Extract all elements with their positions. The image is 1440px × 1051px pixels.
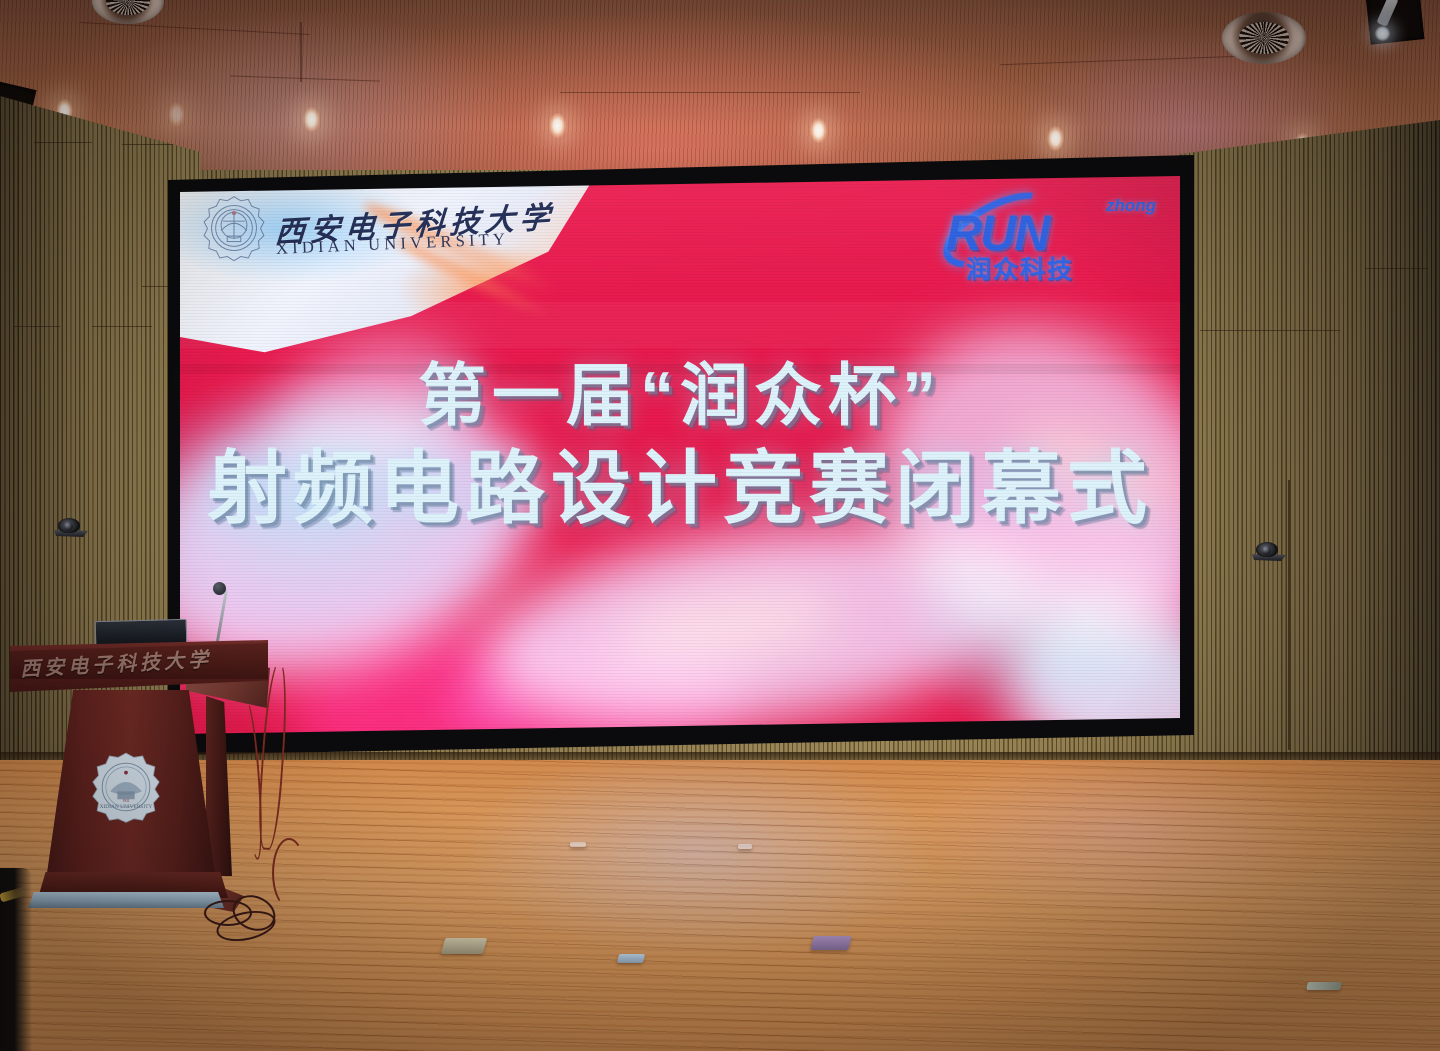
- svg-text:1931: 1931: [122, 799, 129, 803]
- wall-panel-seam: [92, 326, 152, 327]
- wall-panel-seam: [14, 326, 60, 327]
- wall-panel-seam: [1200, 330, 1340, 331]
- floor-outlet-plate: [441, 938, 488, 954]
- ceiling-downlight: [549, 113, 566, 138]
- right-wall: [1180, 120, 1440, 800]
- floor-outlet-plate: [617, 954, 645, 963]
- camera-lens-icon: [1262, 546, 1271, 555]
- ceiling-downlight: [303, 107, 320, 132]
- podium-university-seal-icon: XIDIAN UNIVERSITY 1931: [90, 750, 162, 824]
- microphone-icon: [213, 582, 226, 595]
- ceiling-downlight: [810, 118, 827, 143]
- floor-scuff-mark: [1306, 982, 1342, 990]
- wall-corner-edge: [1288, 480, 1290, 750]
- led-screen: 西安电子科技大学 XIDIAN UNIVERSITY RUN zhong 润众科…: [180, 176, 1180, 734]
- ceiling-downlight: [168, 102, 185, 127]
- wall-panel-seam: [1366, 268, 1428, 269]
- ptz-camera-icon: [1252, 542, 1286, 564]
- spotlight-lamp: [1375, 26, 1390, 41]
- floor-scuff-mark: [738, 844, 752, 849]
- screen-title-line1: 第一届“润众杯”: [180, 356, 1180, 436]
- ptz-camera-icon: [54, 518, 88, 540]
- floor-scuff-mark: [570, 842, 586, 847]
- auditorium-photo: 西安电子科技大学 XIDIAN UNIVERSITY RUN zhong 润众科…: [0, 0, 1440, 1051]
- air-diffuser-icon: [1222, 12, 1306, 64]
- svg-text:XIDIAN UNIVERSITY: XIDIAN UNIVERSITY: [100, 804, 153, 810]
- screen-title-line2: 射频电路设计竞赛闭幕式: [180, 442, 1180, 536]
- wall-panel-seam: [122, 144, 174, 145]
- screen-title-block: 第一届“润众杯” 射频电路设计竞赛闭幕式: [180, 356, 1180, 537]
- wall-panel-seam: [34, 142, 92, 143]
- ceiling-seam: [300, 22, 302, 82]
- ceiling-seam: [560, 92, 860, 93]
- xidian-university-seal-icon: [200, 194, 268, 262]
- runzhong-super-text: zhong: [1106, 196, 1156, 216]
- speaker-podium: 西安电子科技大学 XIDIAN UNIVERSITY 1931: [10, 620, 280, 940]
- power-cable: [272, 838, 306, 908]
- wall-slat-texture: [1180, 120, 1440, 800]
- runzhong-logo: RUN zhong 润众科技: [942, 194, 1162, 278]
- podium-base-trim: [28, 892, 224, 908]
- runzhong-chinese-text: 润众科技: [966, 250, 1074, 286]
- ceiling-downlight: [1047, 126, 1064, 151]
- floor-outlet-plate: [810, 936, 851, 950]
- camera-lens-icon: [64, 522, 73, 531]
